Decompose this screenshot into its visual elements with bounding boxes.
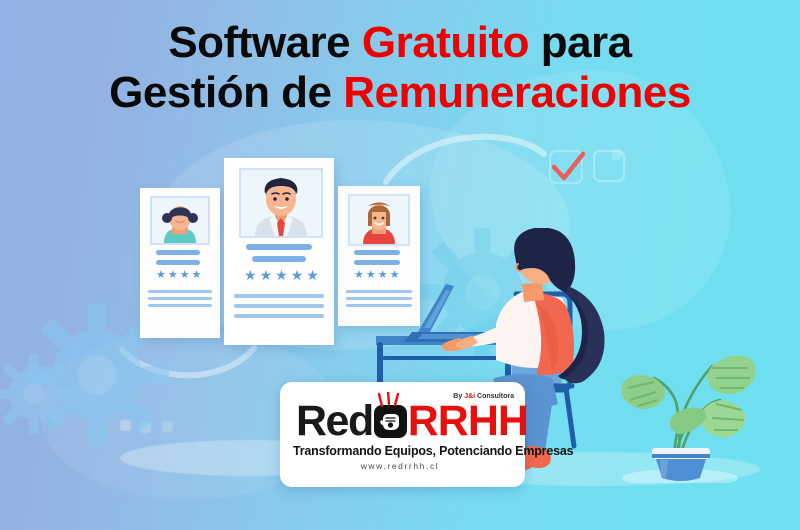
card-detail-line: [234, 294, 324, 298]
card-text-line: [252, 256, 306, 262]
checkbox-empty: [594, 151, 624, 181]
logo-badge[interactable]: By J&i Consultora Red RRHH Trans: [280, 382, 525, 487]
logo-tagline: Transformando Equipos, Potenciando Empre…: [293, 444, 513, 458]
fist-in-rounded-square-icon: [374, 405, 407, 438]
card-detail-line: [234, 304, 324, 308]
headline-text-1b: para: [529, 18, 632, 67]
headline-text-1a: Software: [168, 18, 362, 67]
check-icon: [554, 154, 583, 178]
poster-canvas: Software Gratuito para Gestión de Remune…: [0, 0, 800, 530]
star-icon: ★: [156, 270, 166, 281]
avatar-photo-frame: [239, 168, 323, 238]
card-text-line: [156, 250, 200, 255]
logo-website-url[interactable]: www.redrrhh.cl: [280, 461, 520, 471]
rating-stars: ★ ★ ★ ★: [156, 270, 202, 281]
page-title: Software Gratuito para Gestión de Remune…: [0, 18, 800, 118]
headline-text-2a: Gestión de: [109, 68, 343, 117]
star-icon: ★: [354, 270, 364, 281]
logo-wordmark: Red RRHH: [296, 398, 528, 444]
checkbox-group: [548, 148, 628, 195]
star-icon: ★: [244, 268, 257, 282]
rating-stars: ★ ★ ★ ★ ★: [244, 268, 319, 282]
neck: [522, 282, 544, 302]
star-icon: ★: [180, 270, 190, 281]
logo-divider: [296, 440, 506, 441]
chair-leg: [566, 388, 574, 446]
card-detail-line: [148, 290, 212, 293]
card-detail-line: [148, 297, 212, 300]
card-text-line: [156, 260, 200, 265]
gear-icon: [0, 352, 76, 436]
headline-highlight-2: Remuneraciones: [343, 68, 691, 117]
avatar-man-suit-tie: [241, 170, 321, 236]
logo-word-red: Red: [296, 400, 373, 443]
avatar-woman-dark-hair: [152, 198, 208, 243]
card-text-line: [246, 244, 312, 250]
headline-line-2: Gestión de Remuneraciones: [0, 68, 800, 118]
star-icon: ★: [260, 268, 273, 282]
headline-highlight-1: Gratuito: [362, 18, 529, 67]
laptop-screen-inner: [424, 290, 450, 328]
card-detail-line: [148, 304, 212, 307]
star-icon: ★: [192, 270, 202, 281]
resume-card-center[interactable]: ★ ★ ★ ★ ★: [224, 158, 334, 345]
star-icon: ★: [291, 268, 304, 282]
spark-lines-icon: [378, 392, 404, 408]
avatar-photo-frame: [150, 196, 210, 245]
star-icon: ★: [306, 268, 319, 282]
resume-card-left[interactable]: ★ ★ ★ ★: [140, 188, 220, 338]
headline-line-1: Software Gratuito para: [0, 18, 800, 68]
star-icon: ★: [366, 270, 376, 281]
card-detail-line: [234, 314, 324, 318]
logo-word-rrhh: RRHH: [408, 400, 528, 443]
star-icon: ★: [275, 268, 288, 282]
fist-icon: [379, 410, 402, 433]
star-icon: ★: [168, 270, 178, 281]
